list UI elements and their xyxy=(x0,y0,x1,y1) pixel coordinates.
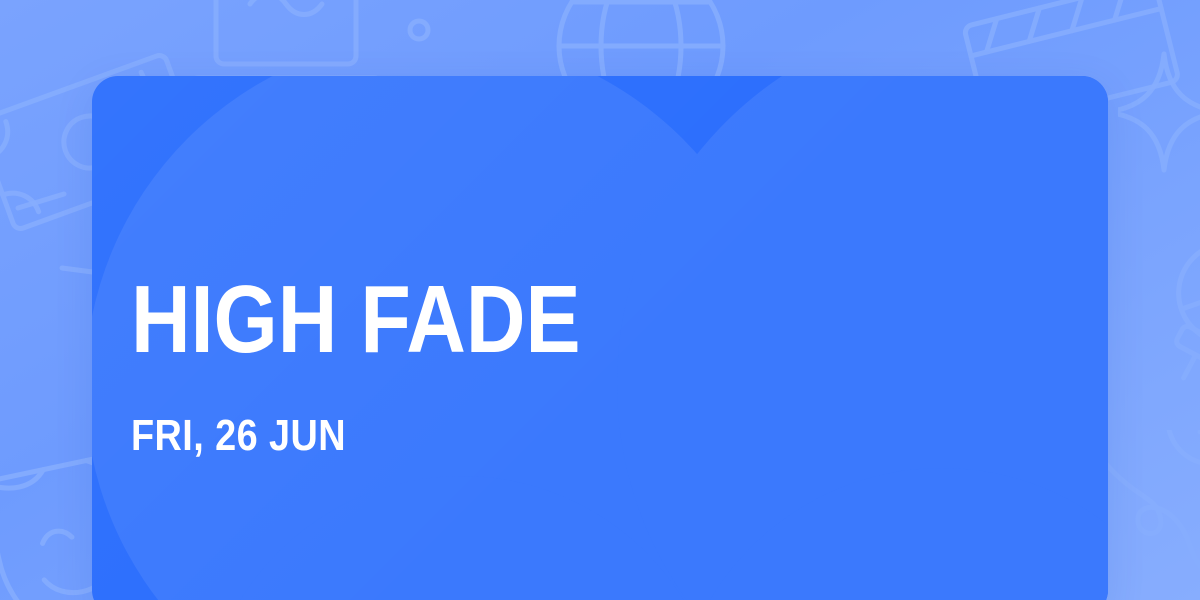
swirl-line-icon xyxy=(1108,430,1200,600)
dot-icon xyxy=(404,16,434,56)
dash-icon xyxy=(12,186,82,216)
event-card[interactable]: HIGH FADE FRI, 26 JUN xyxy=(92,76,1108,600)
card-content: HIGH FADE FRI, 26 JUN xyxy=(131,76,771,600)
microphone-icon xyxy=(1128,222,1200,442)
event-card-canvas: HIGH FADE FRI, 26 JUN xyxy=(0,0,1200,600)
event-date: FRI, 26 JUN xyxy=(131,414,346,458)
event-title: HIGH FADE xyxy=(131,272,581,368)
sparkle-icon xyxy=(1118,46,1200,176)
